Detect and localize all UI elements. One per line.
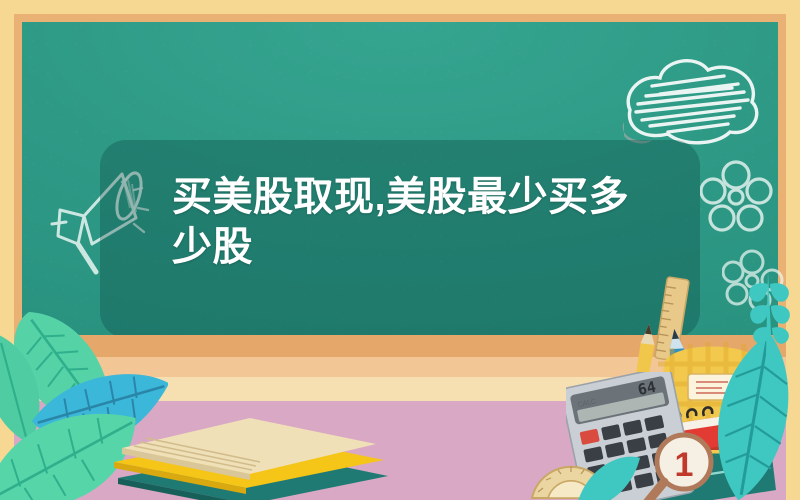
magnifier-number: 1 [675, 446, 694, 484]
cover-image: 买美股取现,美股最少买多少股 [0, 0, 800, 500]
calculator-display: 64 [636, 378, 657, 399]
content-panel: 买美股取现,美股最少买多少股 [100, 140, 700, 338]
book-stack [100, 400, 390, 500]
page-title: 买美股取现,美股最少买多少股 [172, 172, 642, 273]
leaf-teal-sprig [736, 268, 800, 358]
leaf-teal-small [572, 452, 642, 500]
